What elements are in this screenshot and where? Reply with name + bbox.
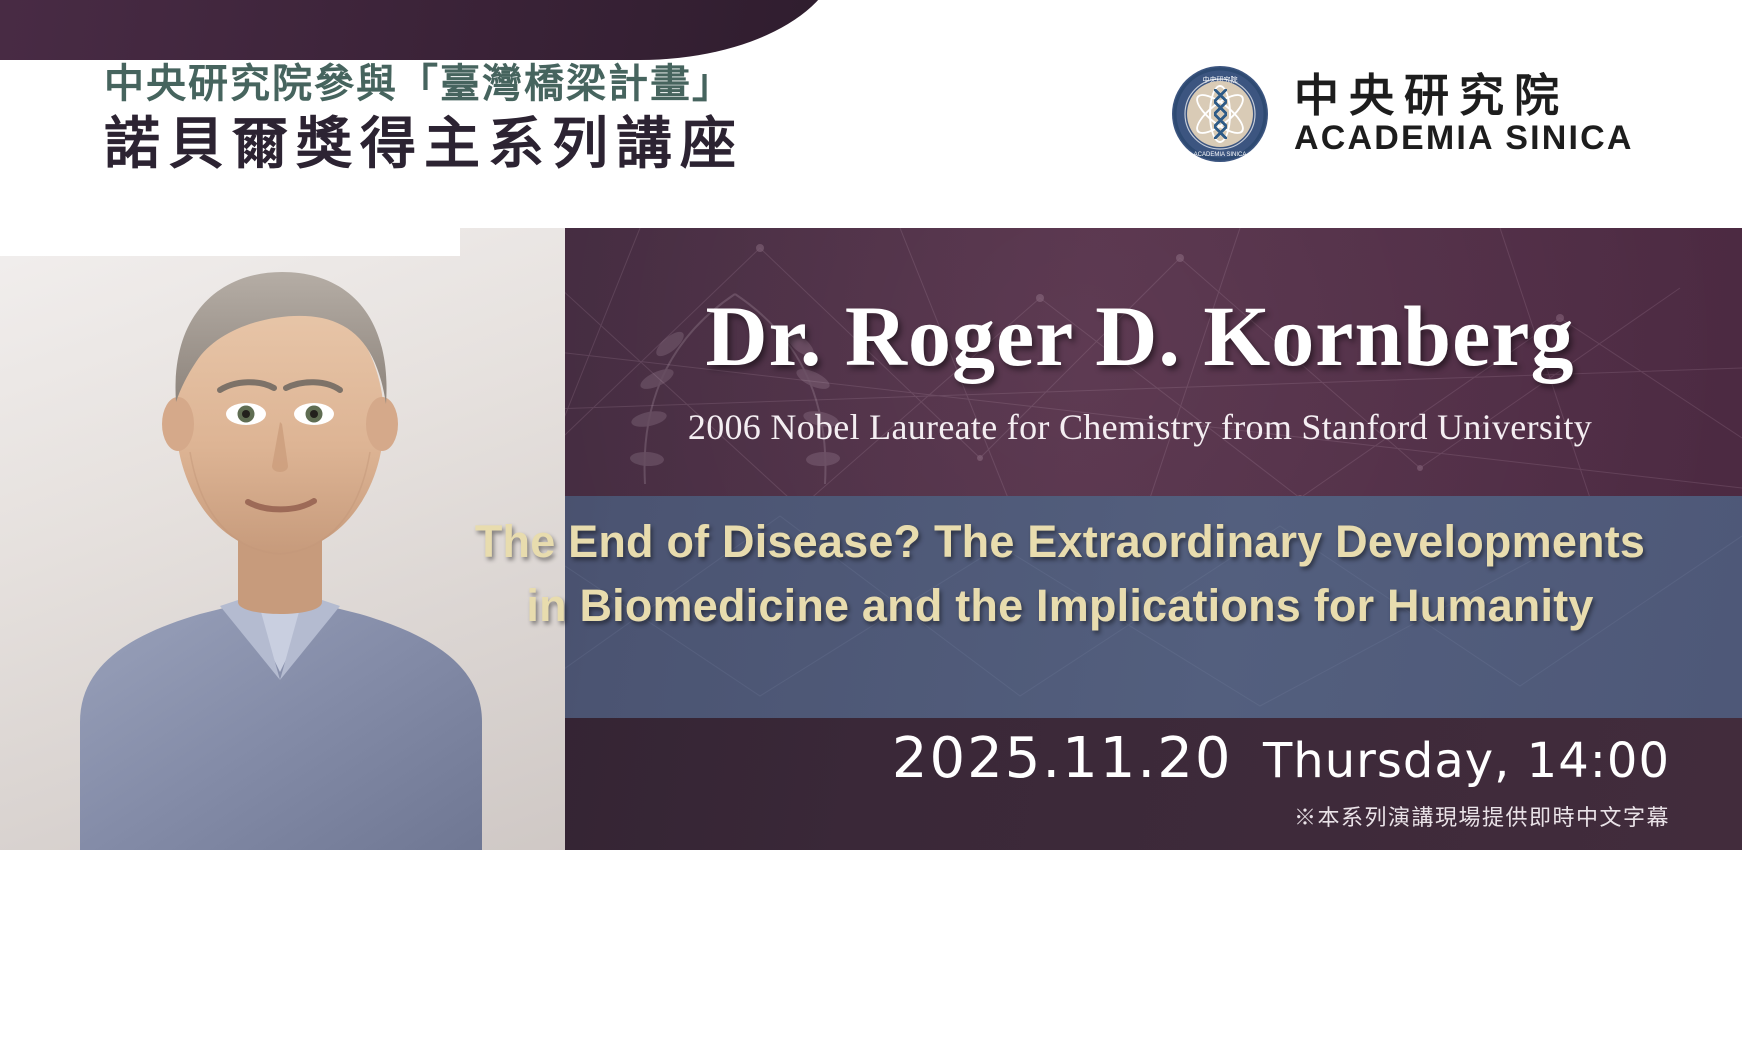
event-datetime: 2025.11.20 Thursday, 14:00	[760, 726, 1700, 791]
poster-header: 中央研究院參與「臺灣橋梁計畫」 諾貝爾獎得主系列講座 中央研究院 ACADEMI…	[0, 0, 1742, 228]
series-subtitle: 中央研究院參與「臺灣橋梁計畫」	[104, 62, 744, 107]
lecture-title-line-2: in Biomedicine and the Implications for …	[430, 574, 1690, 638]
series-title: 諾貝爾獎得主系列講座	[104, 111, 744, 177]
lecture-title-line-1: The End of Disease? The Extraordinary De…	[430, 510, 1690, 574]
header-swoosh-decoration	[0, 0, 840, 60]
speaker-name: Dr. Roger D. Kornberg	[600, 286, 1680, 386]
academia-sinica-name-en: ACADEMIA SINICA	[1294, 121, 1634, 156]
dna-helix-icon	[1214, 89, 1227, 139]
academia-sinica-wordmark: 中央研究院 ACADEMIA SINICA	[1294, 73, 1634, 156]
academia-sinica-seal-icon: 中央研究院 ACADEMIA SINICA	[1172, 66, 1268, 162]
subtitle-note: ※本系列演講現場提供即時中文字幕	[760, 800, 1700, 832]
series-heading-block: 中央研究院參與「臺灣橋梁計畫」 諾貝爾獎得主系列講座	[104, 62, 744, 177]
svg-text:ACADEMIA SINICA: ACADEMIA SINICA	[1194, 152, 1247, 158]
academia-sinica-logo: 中央研究院 ACADEMIA SINICA 中央研究院 ACADEMIA SIN…	[1172, 66, 1634, 162]
poster-footer: 合辦單位 國立臺灣大學 National Taiwan University	[0, 850, 1742, 1050]
lecture-title: The End of Disease? The Extraordinary De…	[430, 510, 1690, 638]
seal-inner-disc	[1187, 81, 1253, 147]
speaker-credential: 2006 Nobel Laureate for Chemistry from S…	[600, 406, 1680, 448]
event-day-time: Thursday, 14:00	[1263, 733, 1670, 789]
academia-sinica-name-cn: 中央研究院	[1294, 73, 1634, 119]
main-feature-panel: Dr. Roger D. Kornberg 2006 Nobel Laureat…	[0, 228, 1742, 850]
event-poster: 中央研究院參與「臺灣橋梁計畫」 諾貝爾獎得主系列講座 中央研究院 ACADEMI…	[0, 0, 1742, 1050]
event-date: 2025.11.20	[892, 726, 1233, 791]
